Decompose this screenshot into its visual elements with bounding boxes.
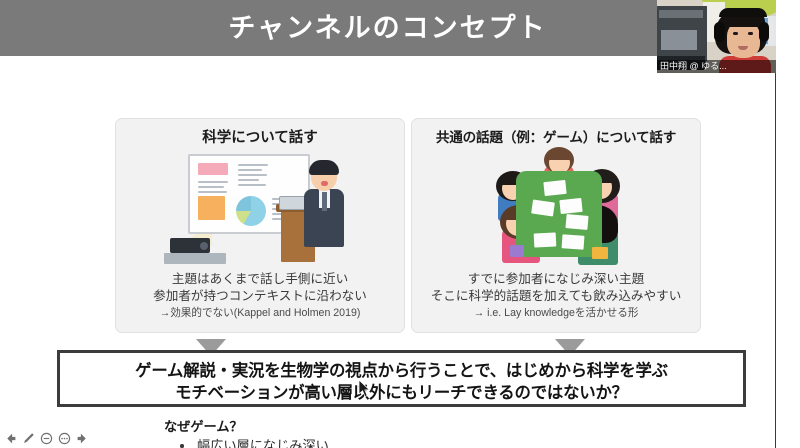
more-options-icon[interactable] [58,432,71,445]
webcam-person-eye-right [748,32,753,35]
presenter-toolbar[interactable] [4,430,89,446]
minimize-icon[interactable] [40,432,53,445]
next-slide-icon[interactable] [76,432,89,445]
concept-card-science: 科学について話す [115,118,405,333]
pie-chart-graphic [236,196,266,226]
previous-slide-icon[interactable] [4,432,17,445]
card-caption-line-2: そこに科学的話題を加えても飲み込みやすい [408,288,704,305]
projector-lens [200,242,208,250]
projector-table [164,253,226,264]
mouse-cursor [359,380,371,398]
card-caption-citation: →効果的でない(Kappel and Holmen 2019) [112,306,408,321]
webcam-shelf-board [659,10,703,18]
list-item: 幅広い層になじみ深い [176,436,552,448]
speaker-hair [309,160,339,175]
why-game-bullet-list: 幅広い層になじみ深い キャラクターや背景として生物学的モチーフが豊富 ゲーム実況… [176,436,552,448]
playing-card [565,214,588,230]
zoom-watermark: zoom [639,442,755,448]
conclusion-line-2: モチベーションが高い層以外にもリーチできるのではないか？ [60,379,743,403]
card-caption-line-1: 主題はあくまで話し手側に近い [112,271,408,288]
table-side-purple [510,245,524,257]
headphone-band-icon [719,8,767,17]
pen-annotation-icon[interactable] [22,432,35,445]
card-title: 科学について話す [116,126,404,147]
webcam-book-white [769,18,773,44]
group-card-game-illustration [474,149,642,267]
conclusion-callout-box: ゲーム解説・実況を生物学の視点から行うことで、はじめから科学を学ぶ モチベーショ… [57,350,746,407]
right-gutter [776,0,800,448]
headphone-cup-left-icon [714,22,725,42]
headphone-cup-right-icon [759,22,769,42]
table-side-yellow [592,247,608,259]
card-caption-line-2: 参加者が持つコンテキストに沿わない [112,288,408,305]
person-fringe [546,149,573,160]
screen-pink-block [198,163,228,175]
playing-card [562,234,585,250]
card-caption-note: → i.e. Lay knowledgeを活かせる形 [408,306,704,321]
conclusion-line-1: ゲーム解説・実況を生物学の視点から行うことで、はじめから科学を学ぶ [60,357,743,381]
playing-card [534,232,557,247]
participant-name: 田中翔 @ ゆる... [660,61,727,72]
card-title: 共通の話題（例：ゲーム）について話す [412,126,700,146]
speaker-tie [322,192,327,211]
why-game-heading: なぜゲーム？ [164,416,243,435]
webcam-shelf-box [661,30,697,50]
screen-orange-block [198,196,225,220]
playing-card [531,200,555,217]
card-caption-line-1: すでに参加者になじみ深い主題 [408,271,704,288]
speaker-mouth [321,181,328,186]
playing-card [559,198,582,214]
presentation-screen-share: チャンネルのコンセプト 科学について話す [0,0,800,448]
webcam-person-eye-left [733,32,738,35]
playing-card [543,180,566,196]
slide-content-area: 科学について話す [0,56,776,448]
webcam-overlay[interactable]: 田中翔 @ ゆる... [657,0,776,73]
lecture-presentation-illustration [176,152,348,264]
participant-name-bar: 田中翔 @ ゆる... [657,60,776,73]
concept-card-common-topic: 共通の話題（例：ゲーム）について話す [411,118,701,333]
